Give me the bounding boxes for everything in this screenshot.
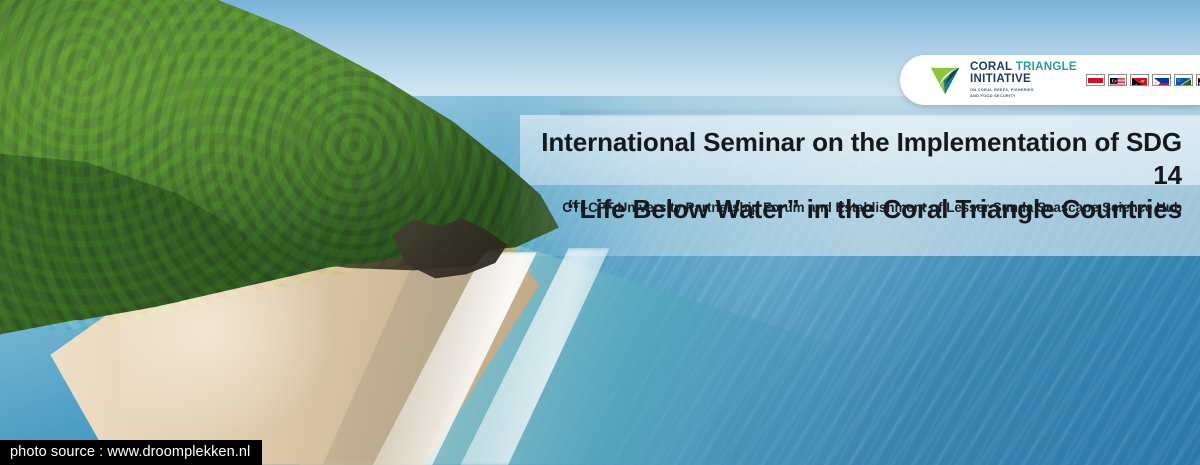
flag-malaysia-icon [1108,74,1127,86]
cti-word-coral: CORAL [970,61,1012,73]
cti-tagline-line-2: AND FOOD SECURITY [970,93,1077,98]
flag-papua-new-guinea-icon [1130,74,1149,86]
cti-word-initiative: INITIATIVE [970,74,1077,86]
flag-indonesia-icon [1086,74,1105,86]
coral-triangle-initiative-logo-icon [928,63,962,97]
cti-line-one: CORAL TRIANGLE [970,62,1077,74]
cti-tagline: ON CORAL REEFS, FISHERIES AND FOOD SECUR… [970,87,1077,98]
flag-solomon-islands-icon [1174,74,1193,86]
flag-timor-leste-icon [1196,74,1200,86]
cti-cff-logo-bar: CORAL TRIANGLE INITIATIVE ON CORAL REEFS… [900,55,1200,105]
horizon-line [560,108,1200,117]
cti-word-triangle: TRIANGLE [1016,61,1077,73]
cti-wordmark: CORAL TRIANGLE INITIATIVE ON CORAL REEFS… [970,62,1077,98]
banner-subtitle: CTI-CFF University Partnership Forum and… [522,200,1182,215]
photo-credit: photo source : www.droomplekken.nl [0,440,262,465]
seminar-banner: CORAL TRIANGLE INITIATIVE ON CORAL REEFS… [0,0,1200,465]
flag-philippines-icon [1152,74,1171,86]
member-country-flags [1086,74,1200,86]
headline-line-1: International Seminar on the Implementat… [541,127,1182,190]
